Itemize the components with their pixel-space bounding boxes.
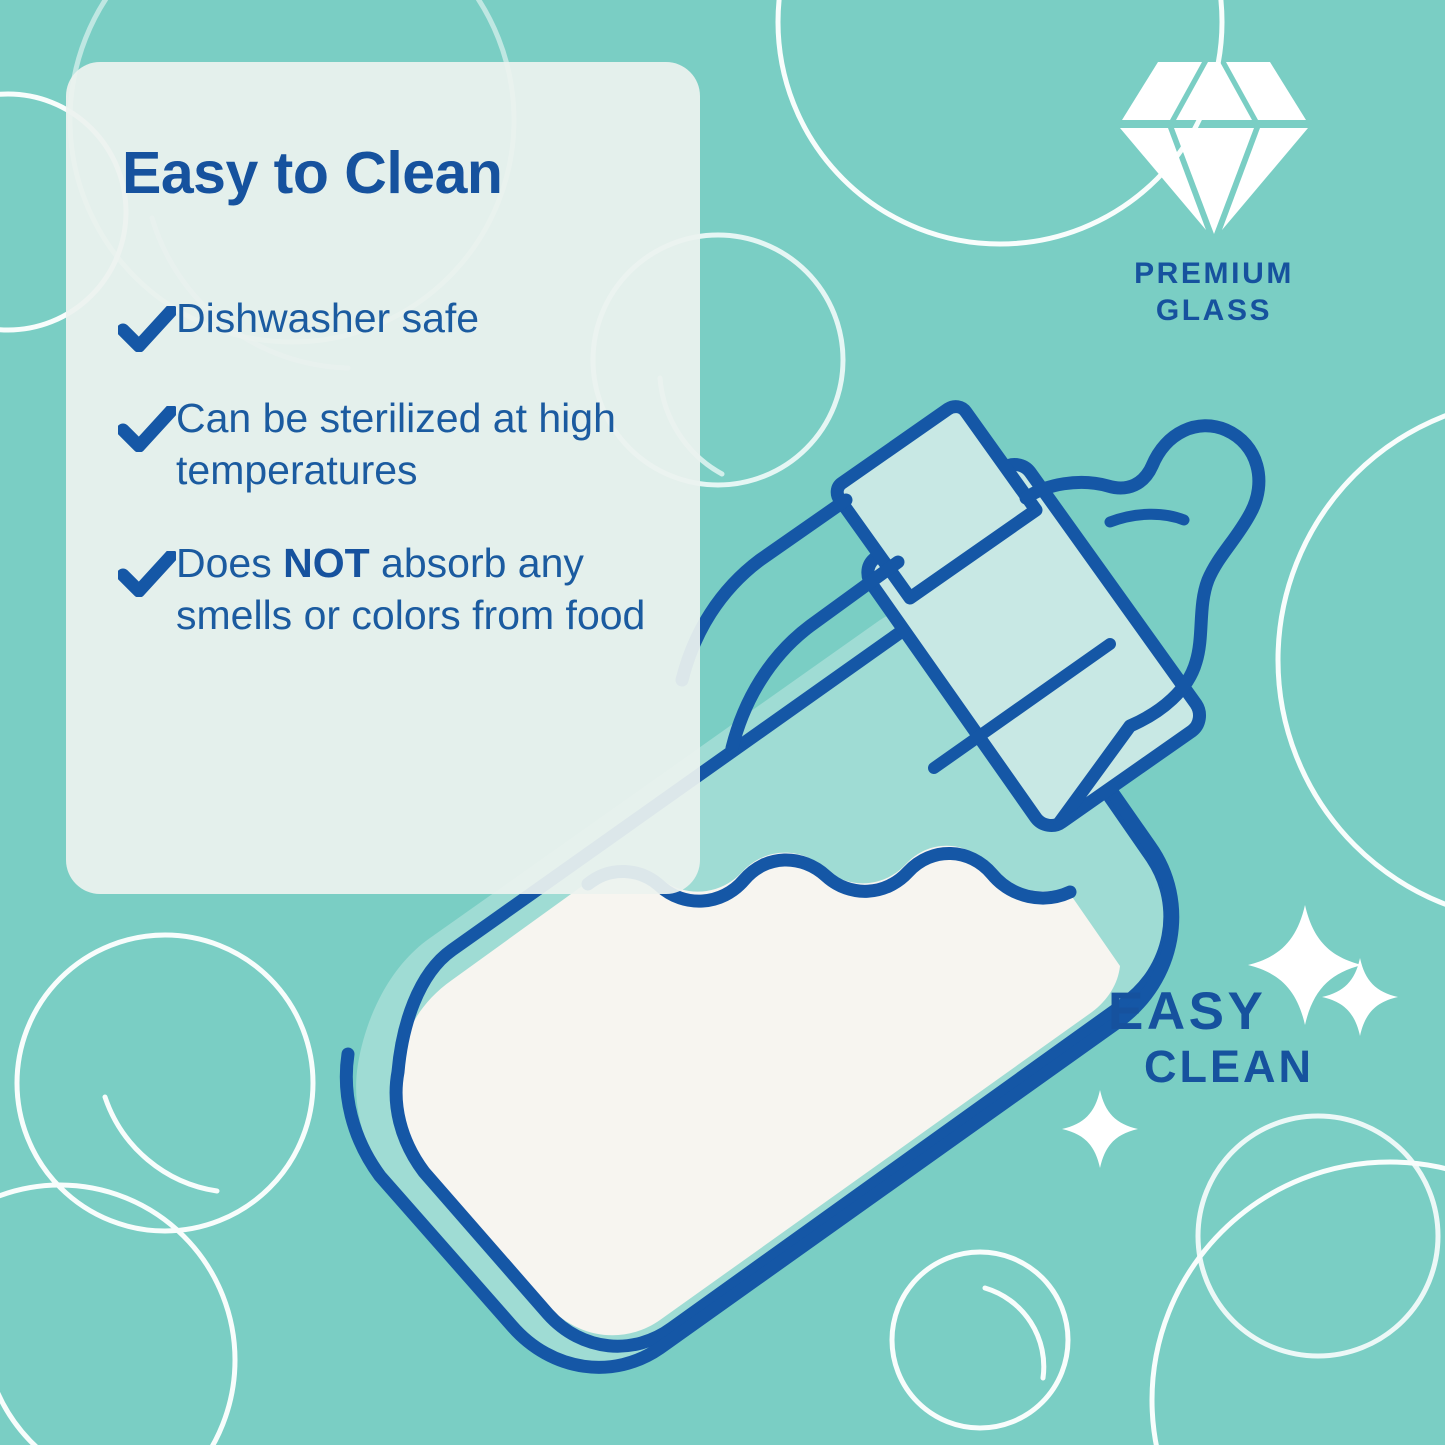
- sparkle-icon: [1062, 1090, 1138, 1168]
- sparkle-icon-group: [0, 0, 1445, 1445]
- easy-clean-line-1: EASY: [1108, 985, 1348, 1039]
- poster-canvas: Easy to Clean Dishwasher safe Can be ste…: [0, 0, 1445, 1445]
- easy-clean-badge: EASY CLEAN: [1108, 985, 1348, 1090]
- easy-clean-line-2: CLEAN: [1144, 1043, 1348, 1090]
